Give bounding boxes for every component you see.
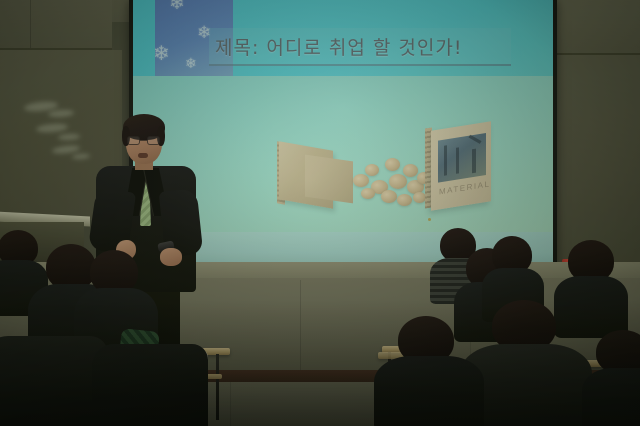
audience-member-foreground <box>470 300 580 426</box>
slide-speck <box>428 218 431 221</box>
log <box>389 174 407 189</box>
slide-illustration: MATERIAL <box>273 124 491 224</box>
photo-panel: MATERIAL <box>431 121 491 211</box>
audience-torso <box>374 356 484 426</box>
crane-shape <box>456 147 459 173</box>
wall-cabinet-left <box>0 0 112 50</box>
classroom-presentation-scene: ❄ ❄ ❄ ❄ 제목: 어디로 취업 할 것인가! <box>0 0 640 426</box>
photo-caption: MATERIAL <box>439 179 490 196</box>
snowflake-icon: ❄ <box>169 0 185 13</box>
wood-board-panel-inner <box>305 155 353 204</box>
cabinet-seam <box>30 0 31 48</box>
board-glare <box>36 123 69 134</box>
glasses-lens <box>127 136 140 145</box>
glasses-icon <box>127 136 161 145</box>
log <box>353 174 369 187</box>
log <box>403 164 418 177</box>
slide-title-band: 제목: 어디로 취업 할 것인가! <box>209 28 511 66</box>
glasses-bridge <box>140 140 147 141</box>
audience-member-foreground <box>590 330 640 426</box>
crane-shape <box>444 145 447 175</box>
floor-tile-line <box>230 382 231 426</box>
audience-coat <box>92 344 208 426</box>
board-glare <box>58 133 80 140</box>
snowflake-icon: ❄ <box>185 56 197 70</box>
desk-leg <box>216 354 219 420</box>
board-glare <box>52 144 81 154</box>
photo-image <box>438 133 486 183</box>
audience-member-foreground <box>92 344 202 426</box>
presenter-mouth <box>138 153 148 158</box>
snowflake-icon: ❄ <box>155 44 170 64</box>
wall-seam <box>300 280 301 372</box>
slide-title: 제목: 어디로 취업 할 것인가! <box>209 33 462 60</box>
audience-member-foreground <box>0 336 102 426</box>
whiteboard-right <box>556 55 640 267</box>
audience-torso <box>582 368 640 426</box>
crane-shape <box>472 149 476 174</box>
log <box>365 164 379 176</box>
log <box>397 194 412 206</box>
glasses-lens <box>147 136 160 145</box>
audience-member-foreground <box>380 316 476 426</box>
log <box>385 158 400 171</box>
board-glare <box>48 109 74 118</box>
crane-shape <box>468 135 481 144</box>
log <box>381 190 397 203</box>
log <box>361 188 375 199</box>
wall-cabinet-right <box>556 0 640 55</box>
presenter-hand-holding-remote <box>160 248 182 266</box>
